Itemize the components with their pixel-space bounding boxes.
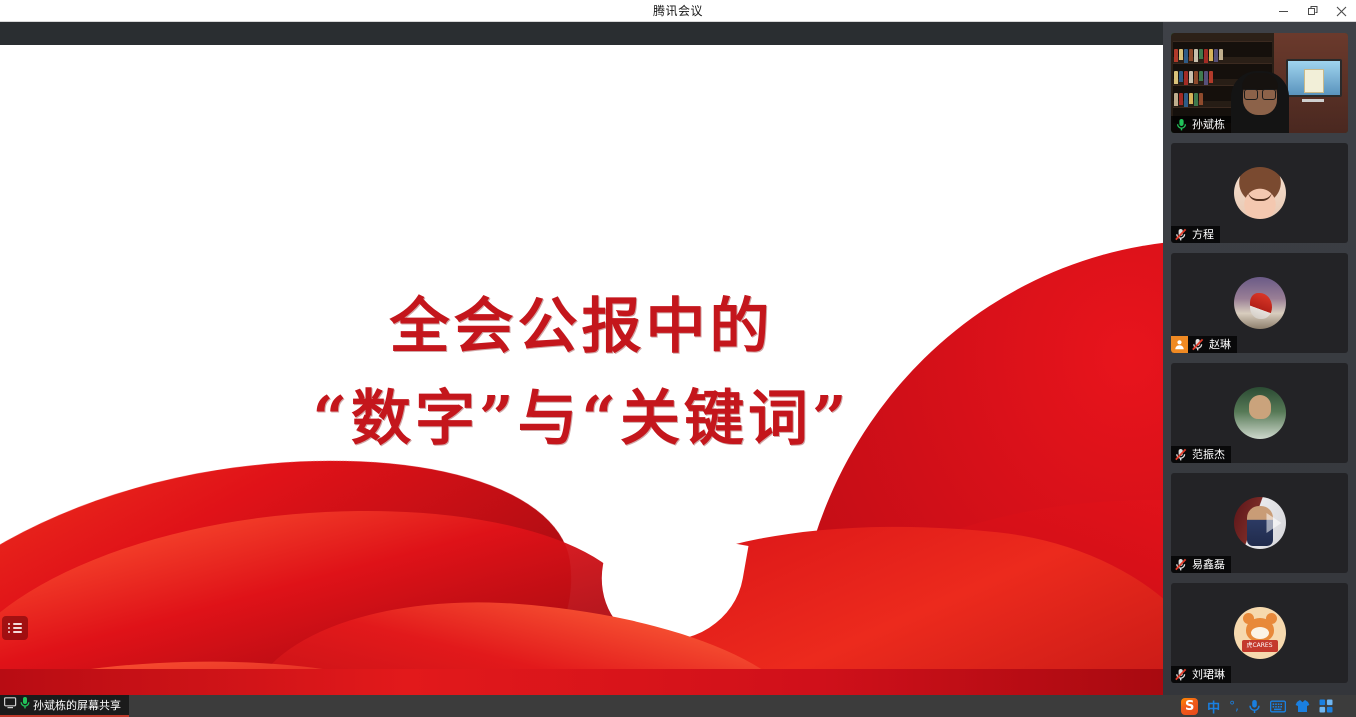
microphone-muted-icon (1173, 556, 1189, 573)
app-title: 腾讯会议 (653, 2, 703, 19)
slideshow-menu-button[interactable] (2, 616, 28, 640)
microphone-muted-icon (1173, 446, 1189, 463)
participant-name: 方程 (1192, 226, 1214, 243)
play-icon (1266, 513, 1281, 533)
participant-tile[interactable]: 赵琳 (1171, 253, 1348, 353)
avatar-band-text: 虎CARES (1242, 640, 1278, 652)
tiger-avatar-icon: 虎CARES (1243, 616, 1277, 646)
share-top-strip (0, 22, 1163, 45)
participant-name-bar: 范振杰 (1171, 446, 1231, 463)
microphone-muted-icon (1190, 336, 1206, 353)
participant-tile[interactable]: 虎CARES 刘珺琳 (1171, 583, 1348, 683)
avatar (1234, 277, 1286, 329)
restore-button[interactable] (1298, 0, 1327, 22)
participant-tile[interactable]: 方程 (1171, 143, 1348, 243)
shared-screen-area[interactable]: 全会公报中的 “数字”与“关键词” (0, 45, 1163, 695)
windows-taskbar: 孙斌栋的屏幕共享 S 中 °, (0, 695, 1356, 717)
participant-tile[interactable]: 易鑫磊 (1171, 473, 1348, 573)
punctuation-mode-icon[interactable]: °, (1229, 695, 1239, 717)
participant-name: 刘珺琳 (1192, 666, 1225, 683)
participant-filmstrip[interactable]: 孙斌栋 方程 (1163, 22, 1356, 695)
participant-name-bar: 刘珺琳 (1171, 666, 1231, 683)
participant-name-bar: 赵琳 (1171, 336, 1237, 353)
meeting-stage: 全会公报中的 “数字”与“关键词” (0, 22, 1356, 695)
slide-decor-bottom-band (0, 669, 1163, 695)
close-button[interactable] (1327, 0, 1356, 22)
input-mode-chinese-icon[interactable]: 中 (1207, 695, 1220, 717)
avatar (1234, 167, 1286, 219)
window-controls (1269, 0, 1356, 22)
microphone-icon (20, 696, 30, 714)
system-tray: S 中 °, (1181, 695, 1356, 717)
participant-name-bar: 方程 (1171, 226, 1220, 243)
participant-tile[interactable]: 范振杰 (1171, 363, 1348, 463)
avatar (1234, 387, 1286, 439)
presentation-slide: 全会公报中的 “数字”与“关键词” (0, 45, 1163, 695)
soft-keyboard-icon[interactable] (1270, 695, 1286, 717)
toolbox-icon[interactable] (1319, 695, 1333, 717)
screen-share-icon (4, 696, 17, 714)
microphone-muted-icon (1173, 666, 1189, 683)
restore-icon (1307, 5, 1319, 17)
microphone-icon (1173, 116, 1189, 133)
sogou-logo-icon[interactable]: S (1181, 695, 1198, 717)
window-title-bar[interactable]: 腾讯会议 (0, 0, 1356, 22)
avatar: 虎CARES (1234, 607, 1286, 659)
participant-tile[interactable]: 孙斌栋 (1171, 33, 1348, 133)
close-icon (1336, 6, 1347, 17)
taskbar-item-screen-share[interactable]: 孙斌栋的屏幕共享 (0, 695, 129, 717)
skin-icon[interactable] (1295, 695, 1310, 717)
participant-name: 赵琳 (1209, 336, 1231, 353)
participant-name-bar: 易鑫磊 (1171, 556, 1231, 573)
list-icon (8, 621, 22, 635)
participant-name-bar: 孙斌栋 (1171, 116, 1231, 133)
minimize-icon (1278, 6, 1289, 17)
participant-name: 孙斌栋 (1192, 116, 1225, 133)
microphone-muted-icon (1173, 226, 1189, 243)
minimize-button[interactable] (1269, 0, 1298, 22)
participant-name: 范振杰 (1192, 446, 1225, 463)
host-person-icon (1171, 336, 1188, 353)
taskbar-item-label: 孙斌栋的屏幕共享 (33, 697, 121, 713)
participant-name: 易鑫磊 (1192, 556, 1225, 573)
voice-input-icon[interactable] (1248, 695, 1261, 717)
